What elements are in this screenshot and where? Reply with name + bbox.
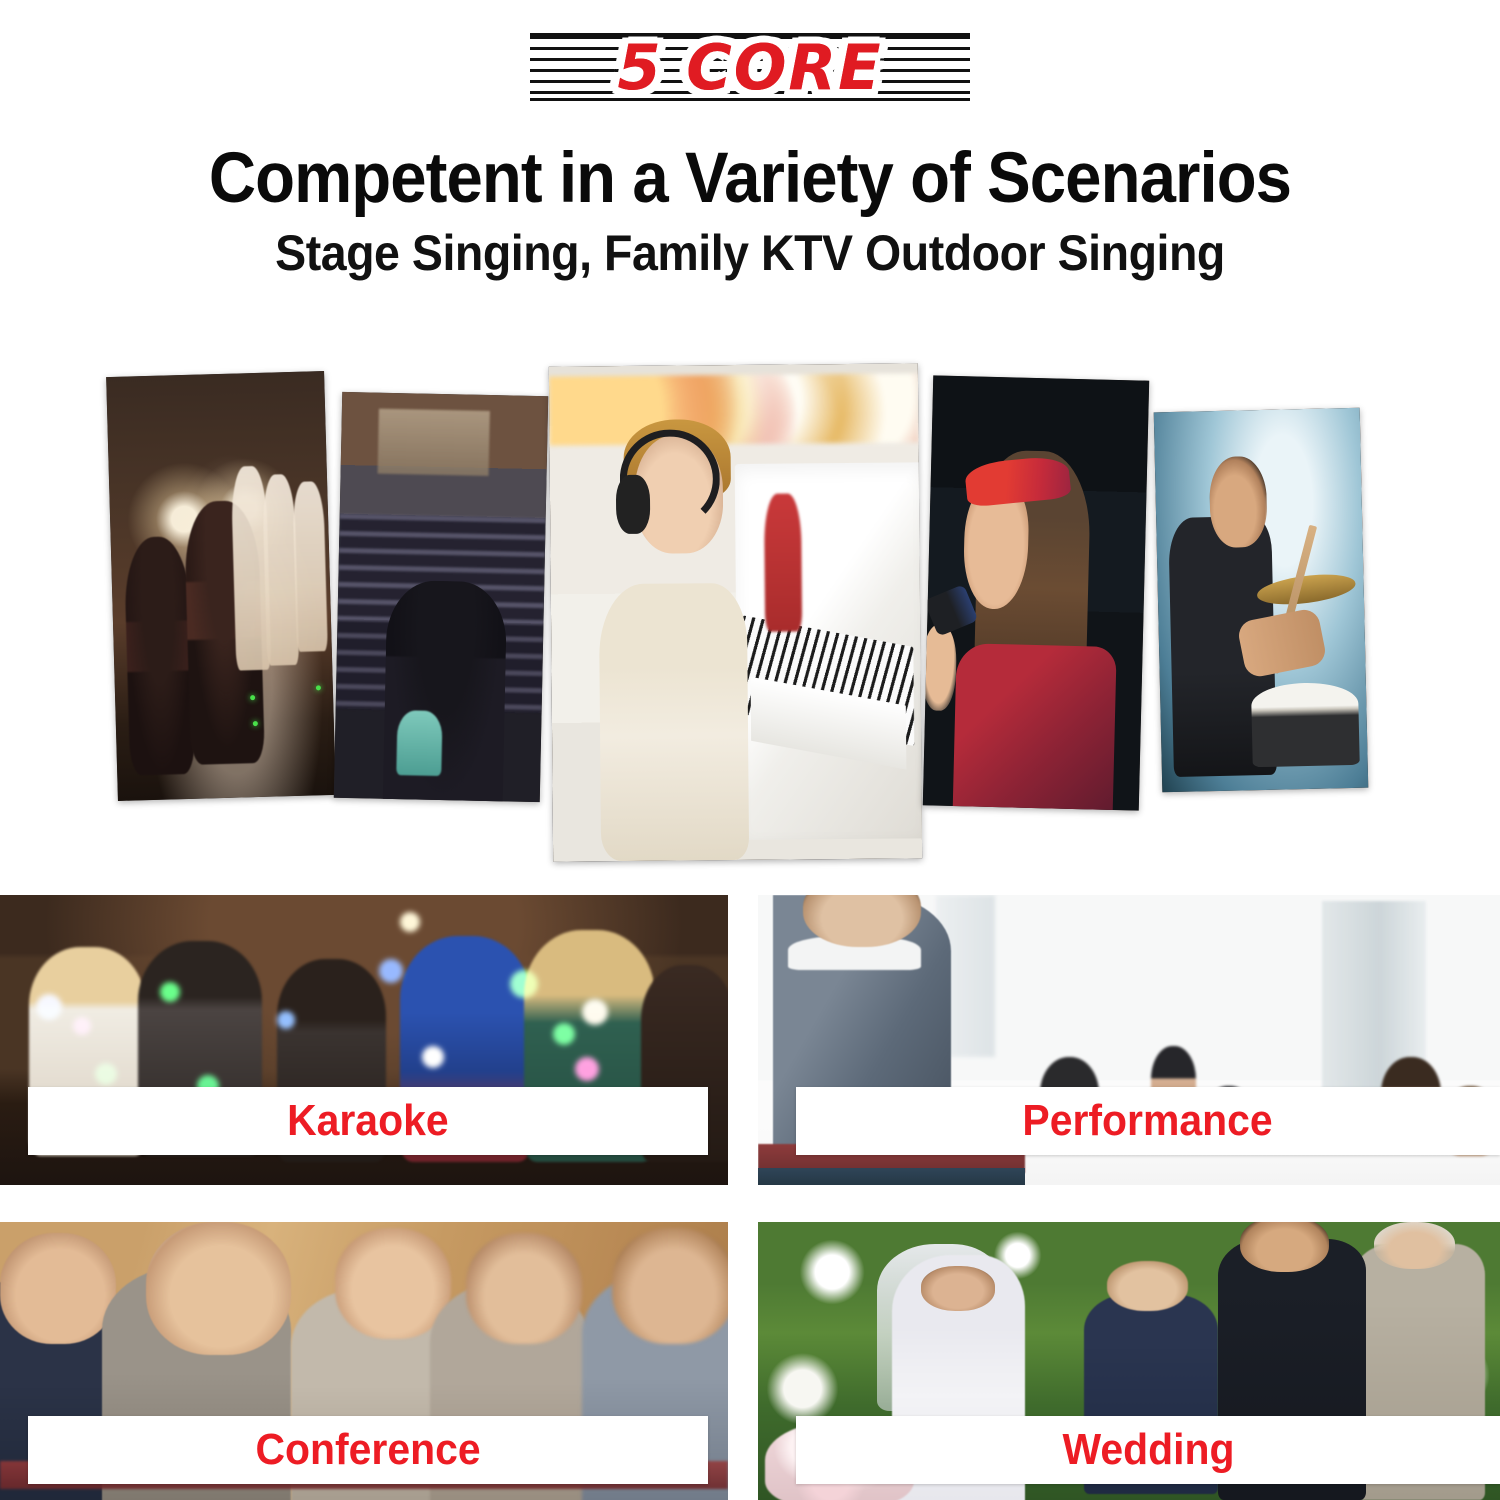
- scenario-label-conference: Conference: [255, 1425, 480, 1475]
- scenario-label-bar: Conference: [28, 1416, 708, 1484]
- scenario-tile-karaoke[interactable]: Karaoke: [0, 895, 728, 1185]
- brand-logo: 5 CORE 5 CORE: [0, 22, 1500, 112]
- scenario-label-bar: Karaoke: [28, 1087, 708, 1155]
- page-title: Competent in a Variety of Scenarios: [60, 143, 1440, 214]
- scenario-label-performance: Performance: [1023, 1096, 1273, 1146]
- scenario-label-bar: Performance: [796, 1087, 1500, 1155]
- scenario-label-wedding: Wedding: [1062, 1425, 1234, 1475]
- collage-photo-singer: [923, 375, 1149, 810]
- scenario-tile-conference[interactable]: Conference: [0, 1222, 728, 1500]
- page-subtitle: Stage Singing, Family KTV Outdoor Singin…: [53, 228, 1448, 278]
- scenario-tile-wedding[interactable]: Wedding: [758, 1222, 1500, 1500]
- scenario-grid: Karaoke Performance: [0, 895, 1500, 1500]
- collage-photo-auditorium: [334, 392, 548, 802]
- scenario-label-karaoke: Karaoke: [287, 1096, 449, 1146]
- logo-badge: 5 CORE 5 CORE: [530, 22, 970, 112]
- collage-photo-child-piano: [549, 363, 922, 861]
- scenario-label-bar: Wedding: [796, 1416, 1500, 1484]
- collage-photo-drummer: [1154, 408, 1369, 793]
- scenario-tile-performance[interactable]: Performance: [758, 895, 1500, 1185]
- product-marketing-page: 5 CORE 5 CORE Competent in a Variety of …: [0, 0, 1500, 1500]
- scenario-photo-collage: [0, 350, 1500, 870]
- logo-text: 5 CORE: [530, 31, 970, 104]
- collage-photo-ballet: [106, 371, 336, 801]
